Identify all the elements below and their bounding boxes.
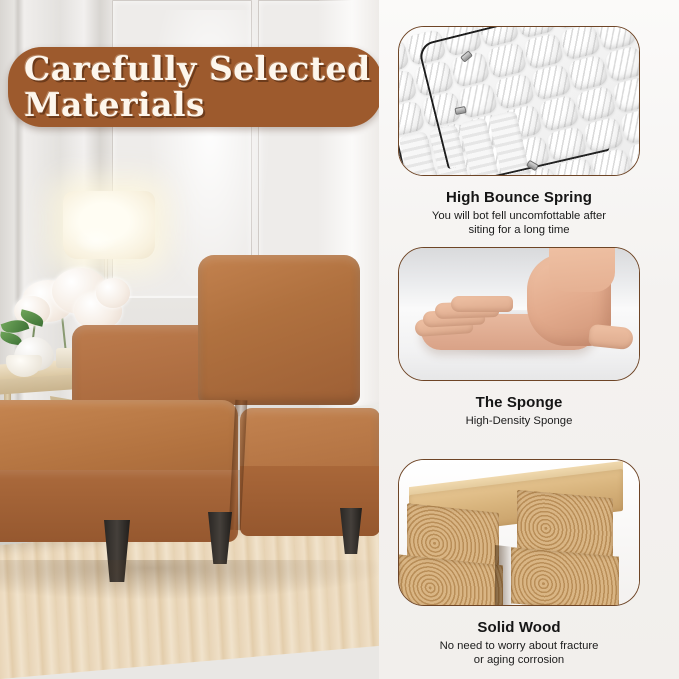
feature-column: High Bounce Spring You will bot fell unc… [379, 0, 679, 679]
feature-title: Solid Wood [398, 619, 640, 636]
sofa-leg [340, 508, 362, 554]
timber-shadow [495, 545, 513, 606]
sofa-back-right [198, 255, 360, 405]
finger [451, 296, 513, 312]
feature-subtitle: You will bot fell uncomfottable after si… [398, 209, 640, 237]
feature-card-the-sponge: The Sponge High-Density Sponge [398, 247, 640, 428]
feature-subtitle: No need to worry about fracture or aging… [398, 639, 640, 667]
feature-card-solid-wood: Solid Wood No need to worry about fractu… [398, 459, 640, 667]
feature-title: The Sponge [398, 394, 640, 411]
feature-subtitle: High-Density Sponge [398, 414, 640, 428]
timber-end-grain [517, 490, 613, 558]
feature-image-wood [398, 459, 640, 606]
foot-ankle [549, 247, 615, 292]
sofa-leg [208, 512, 232, 564]
hero-room-photo: Carefully Selected Materials [0, 0, 379, 679]
feature-image-sponge [398, 247, 640, 381]
feature-card-high-bounce-spring: High Bounce Spring You will bot fell unc… [398, 26, 640, 237]
sofa-shadow [0, 560, 379, 600]
feature-title: High Bounce Spring [398, 189, 640, 206]
headline-text: Carefully Selected Materials [24, 51, 379, 123]
product-feature-graphic: Carefully Selected Materials [0, 0, 679, 679]
feature-image-spring [398, 26, 640, 176]
thumb [588, 324, 634, 350]
headline-banner: Carefully Selected Materials [8, 47, 379, 127]
timber-end-grain [511, 547, 619, 606]
